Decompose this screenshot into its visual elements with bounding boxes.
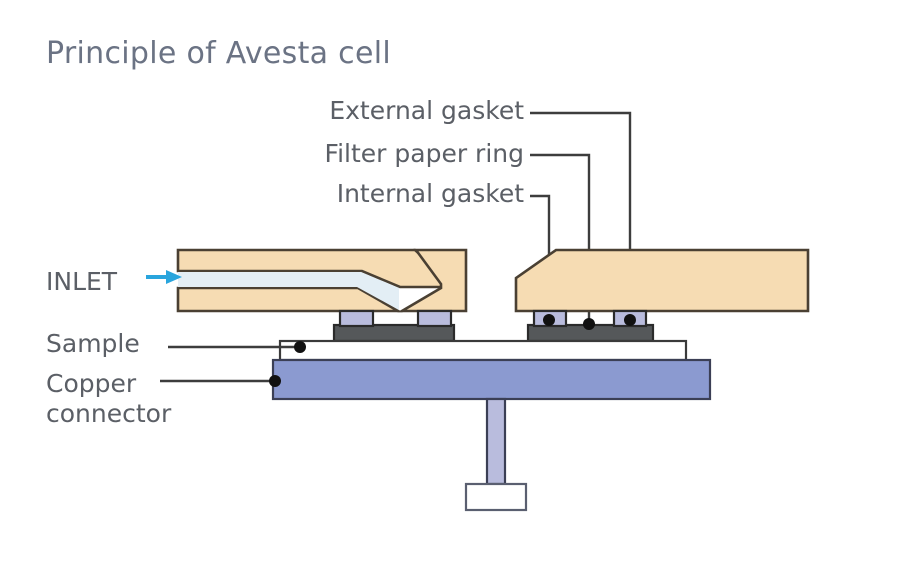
- gasket-left-outer: [418, 311, 451, 326]
- leader-dot-copper-connector: [269, 375, 281, 387]
- avesta-cell-diagram: External gasket Filter paper ring Intern…: [0, 0, 898, 562]
- leader-dot-filter-paper-ring: [583, 318, 595, 330]
- sample-layer: [280, 341, 686, 360]
- leader-dot-internal-gasket: [543, 314, 555, 326]
- filter-paper-ring-left: [334, 325, 454, 341]
- label-inlet: INLET: [46, 267, 118, 296]
- label-external-gasket: External gasket: [329, 96, 524, 125]
- label-sample: Sample: [46, 329, 140, 358]
- gasket-left-inner: [340, 311, 373, 326]
- inlet-arrow-icon: [146, 270, 182, 284]
- connector-stem: [487, 399, 505, 484]
- cell-body-right: [516, 250, 808, 311]
- leader-dot-external-gasket: [624, 314, 636, 326]
- copper-connector: [273, 360, 710, 399]
- diagram-figure: Principle of Avesta cell External gasket…: [0, 0, 898, 562]
- connector-foot: [466, 484, 526, 510]
- label-connector: connector: [46, 399, 172, 428]
- cell-body-left-lower: [178, 288, 398, 311]
- label-filter-paper-ring: Filter paper ring: [325, 139, 524, 168]
- leader-dot-sample: [294, 341, 306, 353]
- label-copper: Copper: [46, 369, 137, 398]
- label-internal-gasket: Internal gasket: [337, 179, 524, 208]
